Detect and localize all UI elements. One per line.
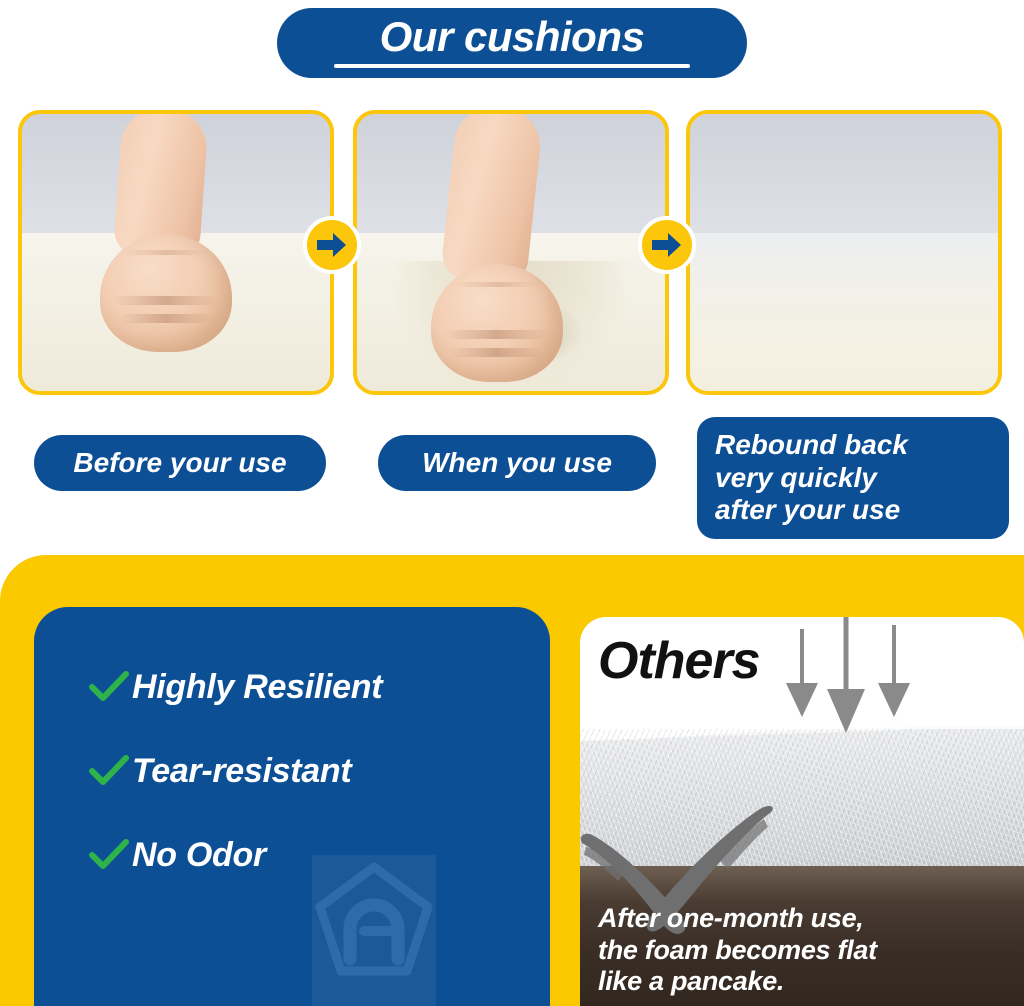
arrow-right-icon xyxy=(303,216,361,274)
caption-after-line-3: after your use xyxy=(715,494,900,526)
infographic-root: Our cushions xyxy=(0,0,1024,1006)
feature-label: Tear-resistant xyxy=(132,752,351,791)
others-caption-line-2: the foam becomes flat xyxy=(598,935,1016,967)
check-icon xyxy=(86,755,132,787)
check-icon xyxy=(86,671,132,703)
feature-item: Highly Resilient xyxy=(86,659,540,715)
arrow-right-icon xyxy=(638,216,696,274)
check-icon xyxy=(86,839,132,871)
feature-label: Highly Resilient xyxy=(132,668,382,707)
photo-scene-during xyxy=(357,114,665,391)
features-card: Highly Resilient Tear-resistant No Odor xyxy=(34,607,550,1006)
others-card: Others xyxy=(580,617,1024,1006)
others-caption-line-1: After one-month use, xyxy=(598,903,1016,935)
feature-item: Tear-resistant xyxy=(86,743,540,799)
page-title: Our cushions xyxy=(380,16,645,58)
pentagon-a-logo-icon xyxy=(312,855,436,1006)
step-photo-during xyxy=(353,110,669,395)
title-underline xyxy=(334,64,690,68)
others-caption: After one-month use, the foam becomes fl… xyxy=(598,903,1016,998)
caption-before: Before your use xyxy=(34,435,326,491)
caption-after-line-2: very quickly xyxy=(715,462,877,494)
caption-after-line-1: Rebound back xyxy=(715,429,908,461)
background-wall xyxy=(690,114,998,239)
down-arrow-icon xyxy=(776,617,956,746)
photo-scene-after xyxy=(690,114,998,391)
feature-label: No Odor xyxy=(132,836,266,875)
others-caption-line-3: like a pancake. xyxy=(598,966,1016,998)
step-photo-after xyxy=(686,110,1002,395)
page-title-badge: Our cushions xyxy=(277,8,747,78)
fist-shape xyxy=(431,264,563,382)
foam-surface-rebounded xyxy=(690,233,998,391)
caption-after: Rebound back very quickly after your use xyxy=(697,417,1009,539)
caption-during: When you use xyxy=(378,435,656,491)
photo-scene-before xyxy=(22,114,330,391)
others-title: Others xyxy=(598,631,760,691)
step-photo-before xyxy=(18,110,334,395)
fist-shape xyxy=(100,234,232,352)
